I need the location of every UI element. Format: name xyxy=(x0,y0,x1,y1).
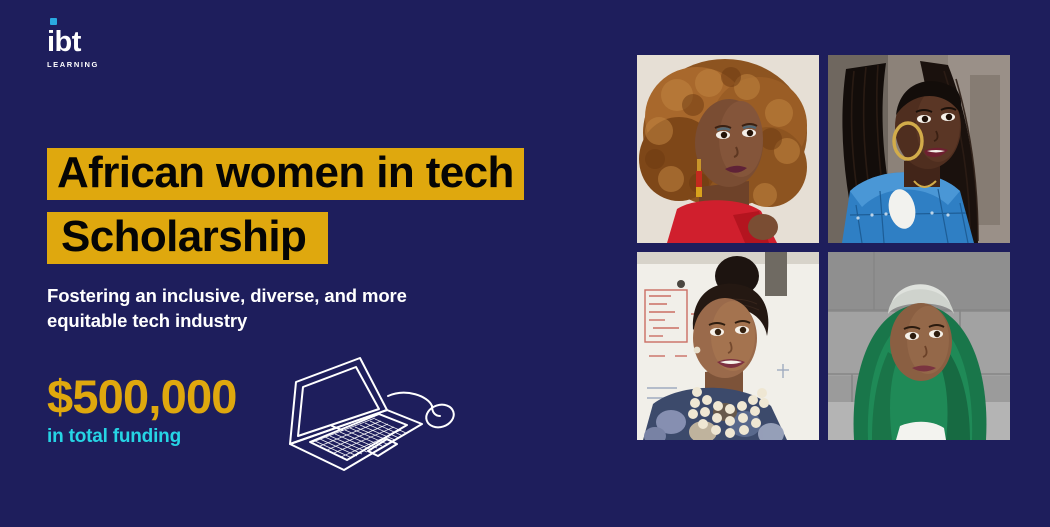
logo-tagline: LEARNING xyxy=(47,60,167,69)
funding-block: $500,000 in total funding xyxy=(47,372,237,448)
logo-wordmark: ibt xyxy=(47,28,167,57)
portrait-photo-grid xyxy=(637,55,1010,440)
photo-bottom-right xyxy=(828,252,1010,440)
photo-top-right xyxy=(828,55,1010,243)
funding-caption: in total funding xyxy=(47,426,237,448)
headline-line-2: Scholarship xyxy=(47,212,328,264)
subtitle-text: Fostering an inclusive, diverse, and mor… xyxy=(47,283,477,333)
photo-top-left xyxy=(637,55,819,243)
headline-line-1: African women in tech xyxy=(47,148,524,200)
scholarship-promo-banner: ibt LEARNING African women in tech Schol… xyxy=(0,0,1050,527)
page-title: African women in tech Scholarship xyxy=(47,148,607,264)
brand-logo[interactable]: ibt LEARNING xyxy=(47,28,167,72)
logo-wordmark-text: ibt xyxy=(47,26,81,58)
photo-bottom-left xyxy=(637,252,819,440)
square-dot-icon xyxy=(50,18,57,25)
funding-amount: $500,000 xyxy=(47,372,237,422)
laptop-and-mouse-icon xyxy=(282,352,467,472)
